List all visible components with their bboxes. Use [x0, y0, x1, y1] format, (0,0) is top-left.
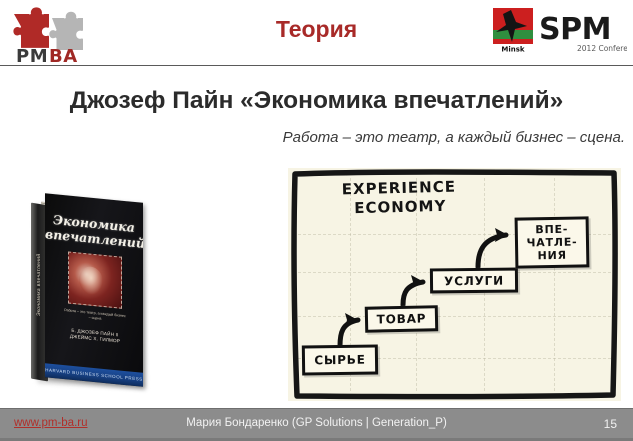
slide-subheading: Работа – это театр, а каждый бизнес – сц… — [0, 129, 625, 146]
book-spine-text: Экономика впечатлений — [36, 224, 42, 345]
book-cover-artwork — [68, 251, 122, 308]
slide-heading: Джозеф Пайн «Экономика впечатлений» — [0, 87, 633, 115]
book-authors: Б. ДЖОЗЕФ ПАЙН II ДЖЕЙМС Х. ГИЛМОР — [59, 327, 131, 347]
svg-text:BA: BA — [49, 46, 78, 64]
diagram-node-experiences: ВПЕ- ЧАТЛЕ- НИЯ — [515, 216, 590, 268]
spm-wordmark: SPM — [539, 12, 611, 47]
svg-text:PM: PM — [16, 46, 48, 64]
svg-text:Minsk: Minsk — [501, 46, 525, 54]
spm-logo: Minsk SPM 2012 Conference — [491, 6, 627, 56]
book-tagline: Работа – это театр, а каждый бизнес – сц… — [63, 308, 127, 324]
slide-header: PM BA Теория Minsk SPM 2012 Conference — [0, 0, 633, 66]
slide-footer: www.pm-ba.ru Мария Бондаренко (GP Soluti… — [0, 408, 633, 441]
diagram-node-raw: СЫРЬЕ — [302, 344, 378, 375]
footer-author-text: Мария Бондаренко (GP Solutions | Generat… — [0, 417, 633, 429]
book-front-cover: Экономика впечатлений Работа – это театр… — [45, 193, 143, 387]
diagram-node-services: УСЛУГИ — [430, 268, 518, 294]
pmba-wordmark: PM BA — [16, 46, 78, 64]
spm-logo-svg: Minsk SPM 2012 Conference — [491, 6, 627, 56]
spm-flag-icon: Minsk — [493, 8, 533, 54]
book-cover-image: Экономика впечатлений Экономика впечатле… — [28, 196, 154, 392]
diagram-node-goods: ТОВАР — [365, 305, 439, 333]
spm-tagline: 2012 Conference — [577, 44, 627, 53]
arrowhead-services — [411, 275, 424, 289]
footer-page-number: 15 — [604, 417, 617, 431]
arrow-services-to-exp — [478, 235, 506, 267]
whiteboard-diagram: EXPERIENCE ECONOMY СЫРЬЕ ТОВАР УСЛУГИ ВП… — [288, 168, 621, 401]
arrowhead-goods — [345, 313, 358, 327]
